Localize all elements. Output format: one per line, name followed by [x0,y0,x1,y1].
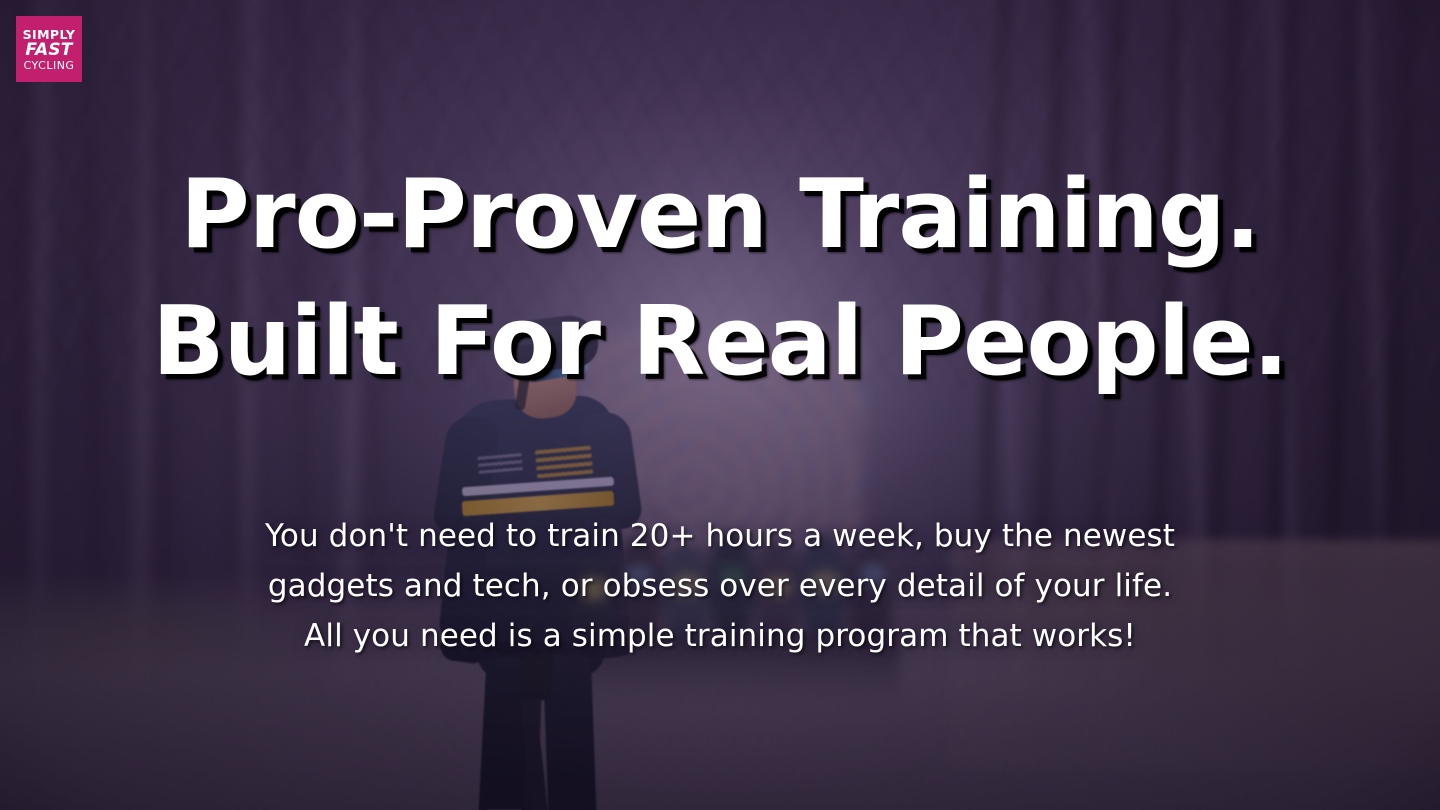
brand-logo[interactable]: SIMPLY FAST CYCLING [16,16,82,82]
logo-word-simply: SIMPLY [23,28,76,41]
page-title: Pro-Proven Training. Built For Real Peop… [0,152,1440,407]
slide-subtext: You don't need to train 20+ hours a week… [0,511,1440,662]
slide-content: Pro-Proven Training. Built For Real Peop… [0,0,1440,810]
logo-word-fast: FAST [25,41,72,60]
hero-slide: SIMPLY FAST CYCLING Pro-Proven Training.… [0,0,1440,810]
logo-word-cycling: CYCLING [24,60,75,73]
